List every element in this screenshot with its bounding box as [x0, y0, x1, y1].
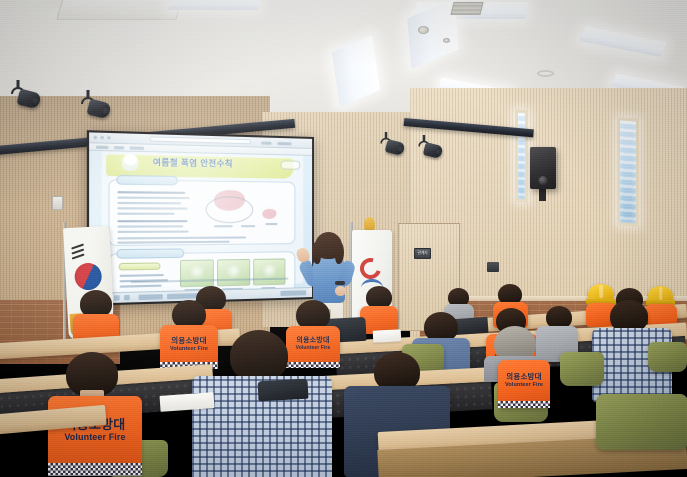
speaker-bracket [539, 187, 546, 201]
browser-address-bar[interactable] [150, 136, 252, 144]
air-vent [450, 2, 483, 15]
ceiling-tile [56, 0, 183, 20]
browser-dot [94, 136, 97, 139]
chair[interactable] [648, 342, 687, 372]
vest-text-english: Volunteer Fire [160, 346, 218, 352]
slide-canvas: 여름철 폭염 안전수칙 [102, 151, 304, 288]
volunteer-fire-vest: 의용소방대 Volunteer Fire [160, 325, 218, 369]
narrow-vertical-window [617, 117, 639, 227]
bookmark-item[interactable] [96, 146, 108, 150]
projection-screen: 여름철 폭염 안전수칙 [87, 130, 314, 306]
smoke-detector-icon [418, 26, 429, 34]
browser-dot [100, 136, 103, 139]
lecture-hall-photo: 관계자 [0, 0, 687, 477]
firefighter-helmet [648, 286, 673, 306]
browser-dot [107, 136, 110, 139]
door-sign: 관계자 [414, 248, 431, 259]
presenter-hair [315, 232, 342, 259]
fluorescent-panel [580, 26, 667, 57]
vest-text-korean: 의용소방대 [286, 335, 340, 345]
volunteer-fire-vest: 의용소방대 Volunteer Fire [286, 326, 340, 368]
chair[interactable] [560, 352, 604, 386]
projected-slide: 여름철 폭염 안전수칙 [89, 132, 312, 303]
wall-outlet-box [52, 196, 63, 210]
vest-hem [286, 362, 340, 368]
presenter-wristwatch [335, 281, 345, 285]
slide-mascot-icon [122, 154, 139, 171]
narrow-vertical-window [515, 109, 528, 202]
vest-text-english: Volunteer Fire [498, 382, 550, 388]
speaker-cone-icon [539, 176, 548, 185]
slide-thumbnail [180, 259, 214, 287]
browser-menu-icon[interactable] [261, 142, 271, 145]
vest-text-english: Volunteer Fire [48, 432, 142, 442]
slide-thumbnail [217, 259, 250, 286]
door-sign-label: 관계자 [415, 249, 430, 255]
vest-text-korean: 의용소방대 [498, 371, 550, 382]
fluorescent-panel [168, 0, 261, 10]
vest-hem [48, 463, 142, 476]
fluorescent-panel [332, 35, 380, 107]
bookmark-item[interactable] [114, 146, 124, 149]
bookmark-item[interactable] [130, 146, 144, 150]
slide-section-2-heading [116, 248, 184, 258]
slide-section-1-heading [116, 175, 178, 185]
head [230, 330, 288, 382]
slide-main-card [108, 179, 295, 246]
slide-title: 여름철 폭염 안전수칙 [153, 157, 233, 170]
slide-badge [280, 160, 300, 169]
wall-socket [487, 262, 499, 272]
ceiling-speaker-icon [537, 70, 554, 77]
browser-menu-icon[interactable] [277, 142, 291, 145]
vest-hem [498, 401, 550, 408]
volunteer-fire-vest: 의용소방대 Volunteer Fire [498, 360, 550, 408]
vest-text-korean: 의용소방대 [160, 335, 218, 346]
slide-list-title [119, 262, 161, 270]
presenter-hand [335, 286, 346, 296]
slide-diagram-illustration [262, 209, 276, 219]
firefighter-helmet [588, 284, 614, 305]
equipment-bag [258, 379, 309, 402]
vest-text-english: Volunteer Fire [286, 345, 340, 351]
handout-paper [373, 329, 402, 342]
chair[interactable] [596, 394, 687, 450]
slide-diagram-ring [206, 196, 254, 223]
wall-speaker [530, 147, 556, 189]
slide-thumbnail [253, 258, 285, 285]
smoke-detector-icon [443, 38, 450, 43]
